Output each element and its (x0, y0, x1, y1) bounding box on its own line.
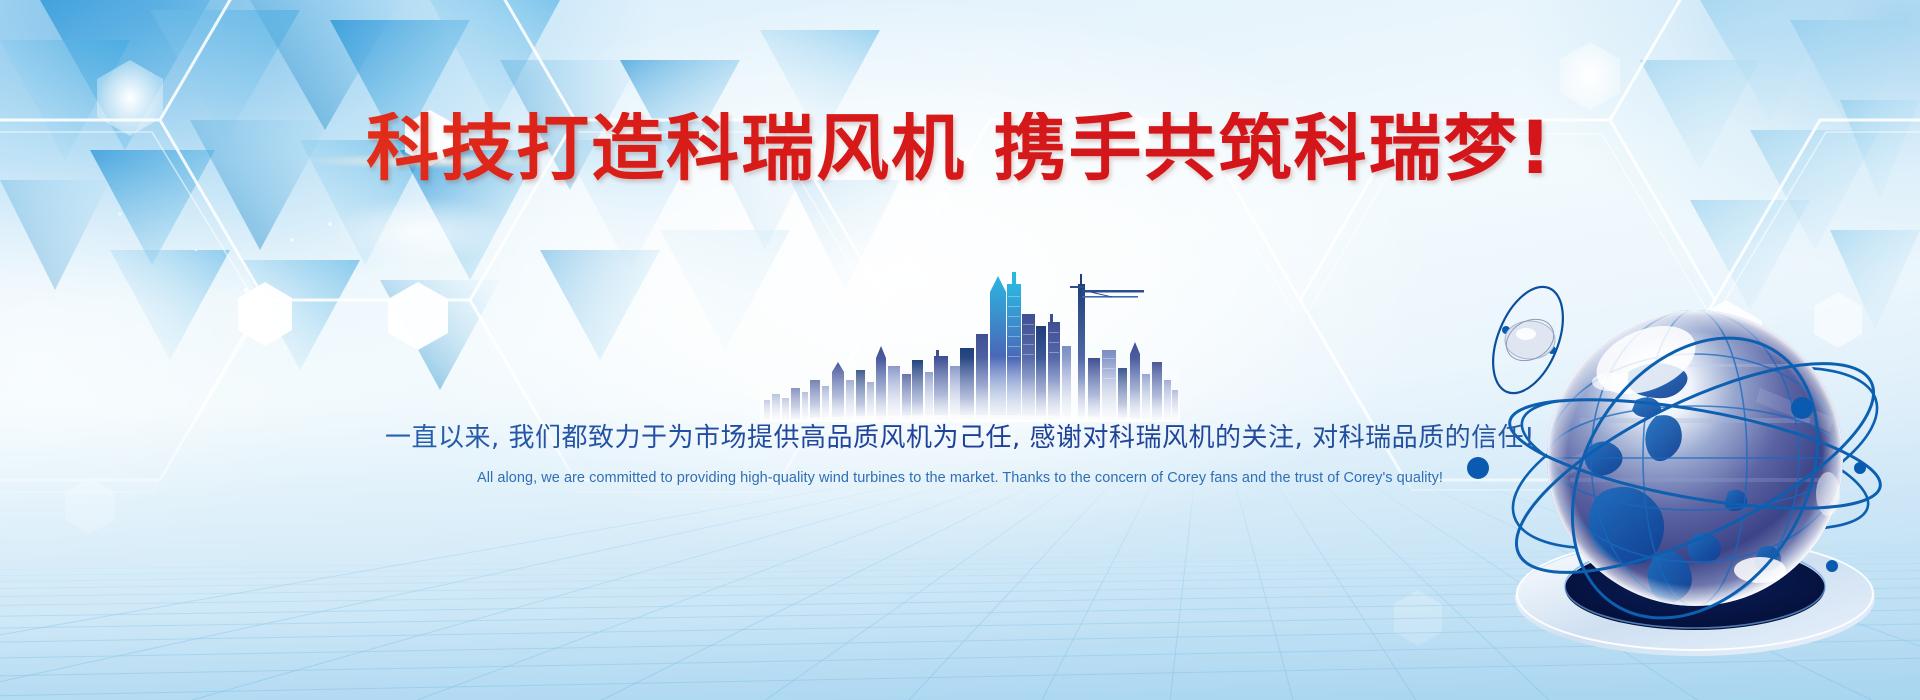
hero-banner: 科技打造科瑞风机 携手共筑科瑞梦! 一直以来, 我们都致力于为市场提供高品质风机… (0, 0, 1920, 700)
city-skyline-illustration (760, 262, 1180, 422)
subtitle-english: All along, we are committed to providing… (0, 468, 1920, 488)
lens-flare-secondary-icon (330, 196, 510, 266)
globe-sphere (1547, 310, 1843, 606)
page-title: 科技打造科瑞风机 携手共筑科瑞梦! (0, 112, 1920, 185)
subtitle-chinese: 一直以来, 我们都致力于为市场提供高品质风机为己任, 感谢对科瑞风机的关注, 对… (0, 422, 1920, 456)
